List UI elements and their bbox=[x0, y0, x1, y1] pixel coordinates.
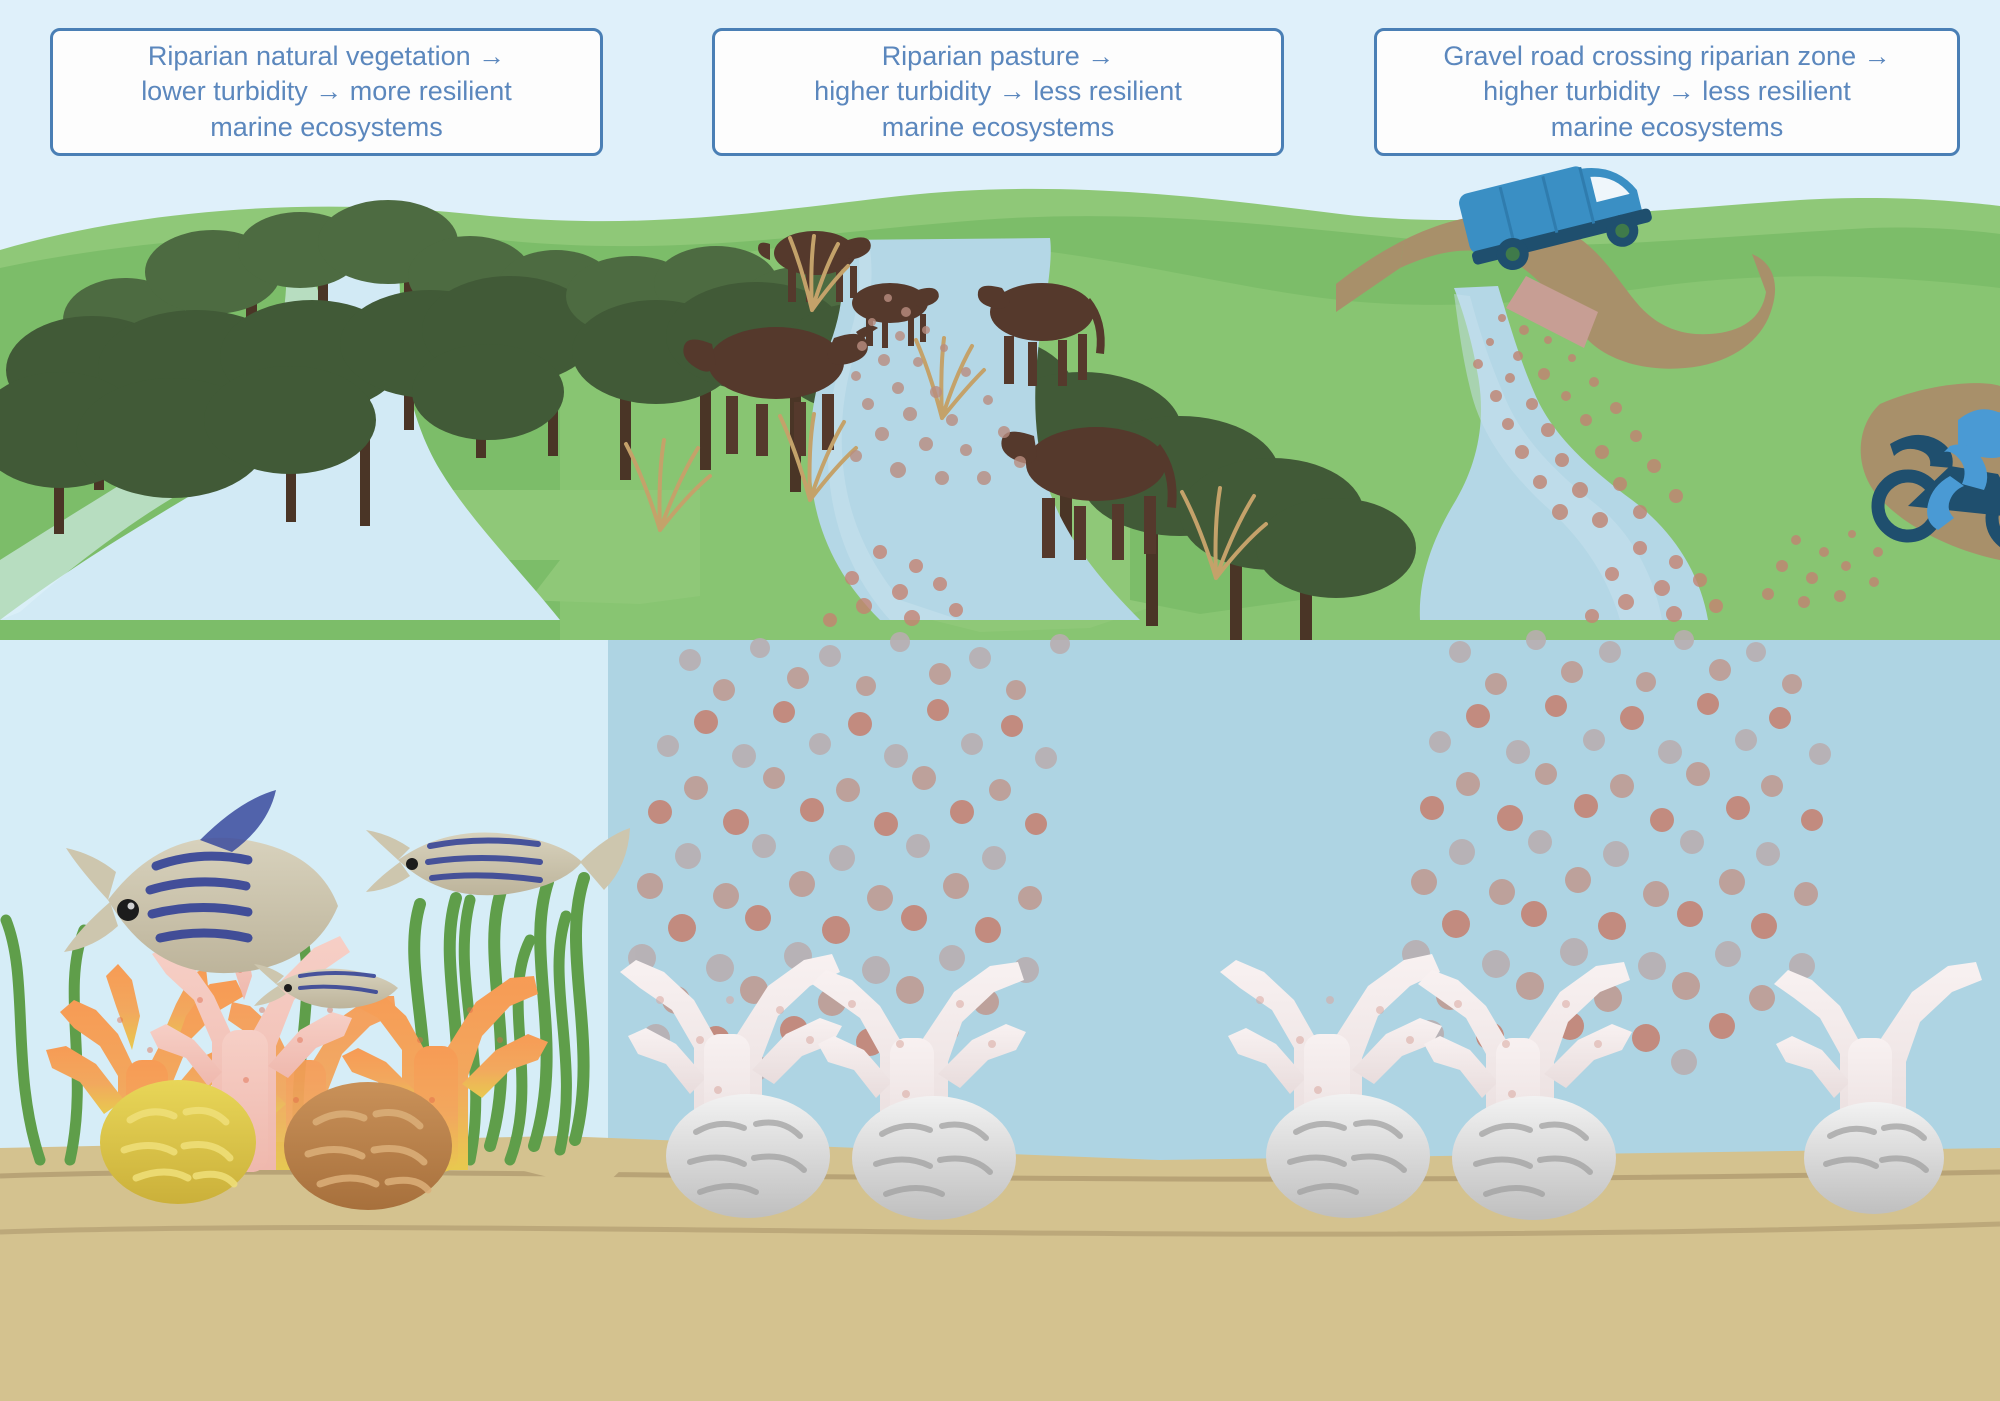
bleached-brain-coral-5 bbox=[1804, 1102, 1944, 1214]
caption-text-riparian-pasture: Riparian pasture → higher turbidity → le… bbox=[814, 39, 1182, 144]
caption-box-riparian-pasture: Riparian pasture → higher turbidity → le… bbox=[712, 28, 1284, 156]
bleached-brain-coral-4 bbox=[1452, 1096, 1616, 1220]
caption-box-gravel-road: Gravel road crossing riparian zone → hig… bbox=[1374, 28, 1960, 156]
caption-text-natural-vegetation: Riparian natural vegetation → lower turb… bbox=[141, 39, 512, 144]
brain-coral-brown bbox=[284, 1082, 452, 1210]
bleached-brain-coral-2 bbox=[852, 1096, 1016, 1220]
brain-coral-yellow bbox=[100, 1080, 256, 1204]
caption-box-natural-vegetation: Riparian natural vegetation → lower turb… bbox=[50, 28, 603, 156]
caption-text-gravel-road: Gravel road crossing riparian zone → hig… bbox=[1443, 39, 1890, 144]
figure-canvas: Riparian natural vegetation → lower turb… bbox=[0, 0, 2000, 1401]
bleached-brain-coral-1 bbox=[666, 1094, 830, 1218]
diagram-artwork bbox=[0, 0, 2000, 1401]
bleached-brain-coral-3 bbox=[1266, 1094, 1430, 1218]
caption-row: Riparian natural vegetation → lower turb… bbox=[0, 0, 2000, 180]
